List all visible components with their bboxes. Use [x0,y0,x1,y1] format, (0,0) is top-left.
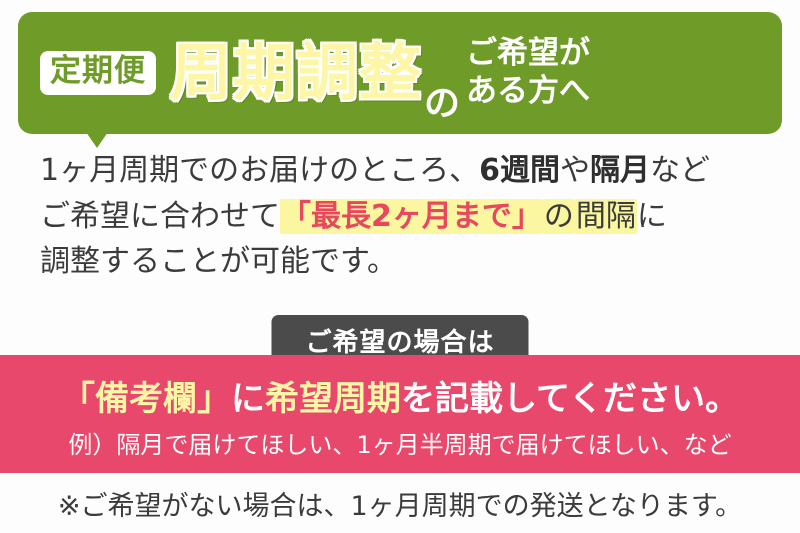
body-line1-part-a: 1ヶ月周期でのお届けのところ、 [40,153,479,188]
footer-note: ※ご希望がない場合は、1ヶ月周期での発送となります。 [0,484,800,523]
body-line1-part-e: など [650,153,710,188]
body-line2-interval: 間隔 [575,199,637,234]
banner-subtitle: ご希望が ある方へ [466,35,590,111]
pink-callout-band: 「備考欄」に希望周期を記載してください。 例）隔月で届けてほしい、1ヶ月半周期で… [0,355,800,473]
pink-headline-cycle: 希望周期 [265,379,401,419]
promo-page: 定期便 周期調整 の ご希望が ある方へ 1ヶ月周期でのお届けのところ、6週間や… [0,0,800,533]
pink-headline: 「備考欄」に希望周期を記載してください。 [0,371,800,420]
pink-headline-remarks: 「備考欄」 [61,379,231,419]
header-banner: 定期便 周期調整 の ご希望が ある方へ [18,12,782,134]
body-line2-highlight-max: 「最長2ヶ月まで」 [280,199,543,234]
banner-subtitle-line1: ご希望が [466,35,590,73]
banner-subtitle-line2: ある方へ [466,73,590,111]
pink-example-text: 例）隔月で届けてほしい、1ヶ月半周期で届けてほしい、など [0,425,800,460]
body-line-2: ご希望に合わせて「最長2ヶ月まで」の間隔に [40,194,770,240]
banner-main-title: 周期調整 [170,42,422,104]
body-line1-weeks: 6週間 [479,153,560,188]
body-line1-bimonthly: 隔月 [590,153,650,188]
banner-tail-pointer [86,132,108,148]
banner-particle: の [424,86,460,134]
body-line-3: 調整することが可能です。 [40,239,770,285]
body-paragraph: 1ヶ月周期でのお届けのところ、6週間や隔月など ご希望に合わせて「最長2ヶ月まで… [40,148,770,285]
body-line2-part-c: の [543,199,575,234]
banner-pill-label: 定期便 [40,51,156,95]
pink-headline-part-b: に [231,379,265,419]
body-line1-part-c: や [560,153,590,188]
body-line-1: 1ヶ月周期でのお届けのところ、6週間や隔月など [40,148,770,194]
body-line2-part-a: ご希望に合わせて [40,199,280,234]
pink-headline-part-d: を記載してください。 [401,379,739,419]
banner-content: 定期便 周期調整 の ご希望が ある方へ [18,12,782,134]
body-line2-part-e: に [637,199,667,234]
